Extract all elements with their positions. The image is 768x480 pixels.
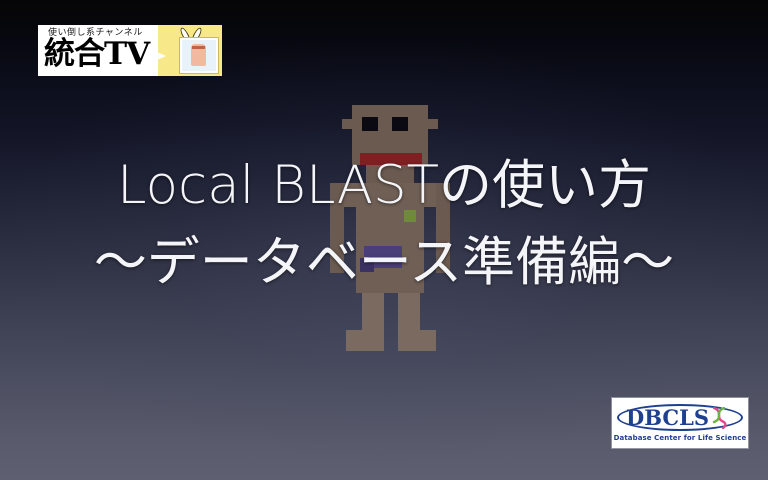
tv-screen-icon (180, 38, 218, 73)
figure-pixel (362, 117, 378, 131)
pixel-art-figure (310, 98, 460, 356)
page-title: Local BLASTの使い方 (0, 155, 768, 217)
dbcls-wordmark: DBCLS (626, 405, 709, 430)
figure-pixel (378, 117, 392, 131)
figure-pixel (362, 293, 384, 351)
figure-pixel (408, 117, 428, 131)
figure-pixel (352, 105, 428, 117)
video-title-slide: 使い倒し系チャンネル 統合TV Local BLASTの使い方 〜データベース準… (0, 0, 768, 480)
channel-logo-wordmark: 統合TV (44, 36, 149, 72)
tv-figure-icon (191, 44, 206, 66)
logo-mascot-panel (158, 25, 222, 76)
figure-pixel (352, 131, 428, 153)
page-subtitle: 〜データベース準備編〜 (0, 232, 768, 294)
figure-pixel (392, 117, 408, 131)
dna-helix-icon (711, 407, 728, 429)
dbcls-tagline: Database Center for Life Science (612, 433, 748, 443)
togotv-channel-logo[interactable]: 使い倒し系チャンネル 統合TV (38, 25, 222, 76)
figure-pixel (352, 117, 362, 131)
figure-pixel (342, 119, 352, 129)
figure-pixel (346, 330, 362, 351)
figure-pixel (398, 293, 420, 351)
speech-tail-icon (150, 49, 166, 63)
dbcls-logo[interactable]: DBCLS Database Center for Life Science (612, 398, 748, 448)
figure-pixel (420, 330, 436, 351)
figure-pixel (428, 119, 438, 129)
